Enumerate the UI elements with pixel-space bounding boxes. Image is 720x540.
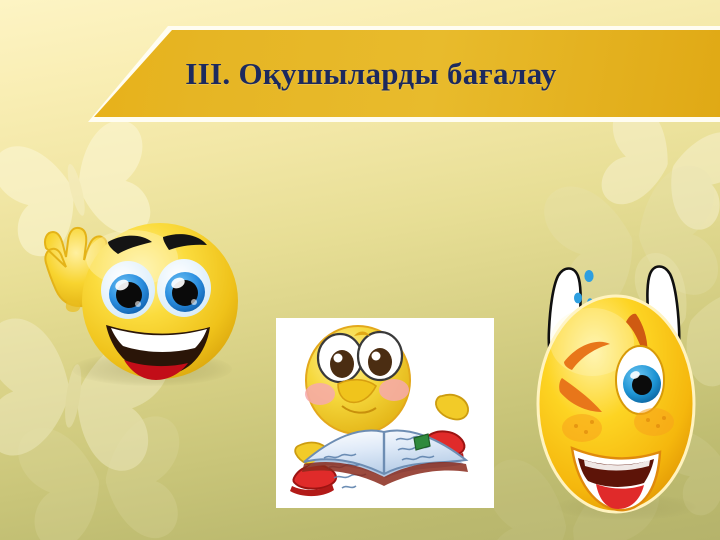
winking-thumbs-up-smiley: [498, 232, 720, 522]
eye-right-icon: [616, 346, 664, 414]
waving-smiley: [8, 196, 258, 386]
title-banner: III. Оқушыларды бағалау: [0, 26, 720, 122]
slide-canvas: III. Оқушыларды бағалау: [0, 0, 720, 540]
cheek-right: [634, 408, 674, 436]
smiley-reading-book-image: [276, 318, 494, 508]
book-character-head: [305, 326, 410, 434]
page-title: III. Оқушыларды бағалау: [0, 26, 720, 122]
eye-left-icon: [101, 261, 155, 319]
butterfly-watermark-icon: [4, 389, 200, 540]
eye-right-icon: [157, 259, 211, 317]
cheek-left: [562, 414, 602, 442]
